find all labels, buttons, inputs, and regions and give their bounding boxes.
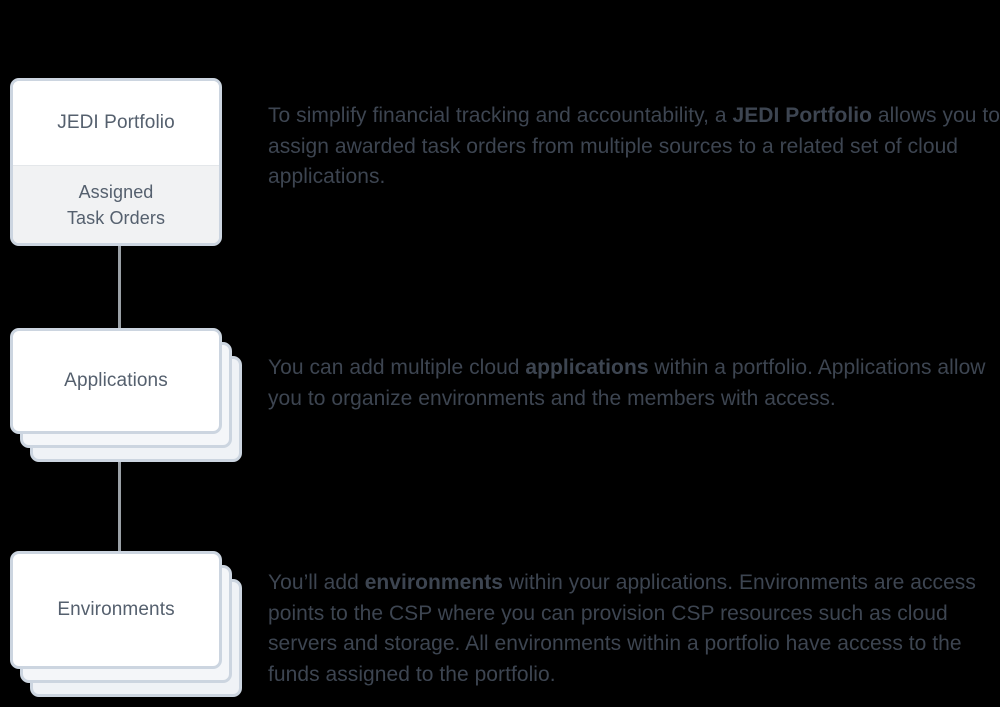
description-portfolio: To simplify financial tracking and accou… (268, 101, 1000, 193)
jedi-portfolio-card: JEDI Portfolio AssignedTask Orders (10, 78, 222, 246)
description-portfolio-emphasis: JEDI Portfolio (733, 104, 873, 127)
environments-card-front: Environments (10, 551, 222, 669)
description-applications: You can add multiple cloud applications … (268, 353, 1000, 414)
description-environments: You’ll add environments within your appl… (268, 568, 1000, 690)
description-applications-emphasis: applications (525, 356, 648, 379)
jedi-portfolio-card-header: JEDI Portfolio (13, 81, 219, 166)
connector-portfolio-to-applications (118, 243, 121, 333)
applications-card-front: Applications (10, 328, 222, 434)
assigned-task-orders-line1: Assigned (79, 182, 154, 202)
node-jedi-portfolio[interactable]: JEDI Portfolio AssignedTask Orders (10, 78, 222, 246)
connector-applications-to-environments (118, 462, 121, 554)
assigned-task-orders-line2: Task Orders (67, 208, 165, 228)
node-applications[interactable]: Applications (10, 328, 242, 462)
jedi-portfolio-label: JEDI Portfolio (57, 110, 175, 136)
description-applications-part1: You can add multiple cloud (268, 356, 525, 379)
description-portfolio-part1: To simplify financial tracking and accou… (268, 104, 733, 127)
applications-label: Applications (64, 368, 168, 394)
environments-label: Environments (57, 597, 174, 623)
description-environments-part1: You’ll add (268, 571, 365, 594)
node-environments[interactable]: Environments (10, 551, 242, 697)
assigned-task-orders-label: AssignedTask Orders (67, 179, 165, 231)
description-environments-emphasis: environments (365, 571, 503, 594)
jedi-portfolio-card-footer: AssignedTask Orders (13, 166, 219, 243)
